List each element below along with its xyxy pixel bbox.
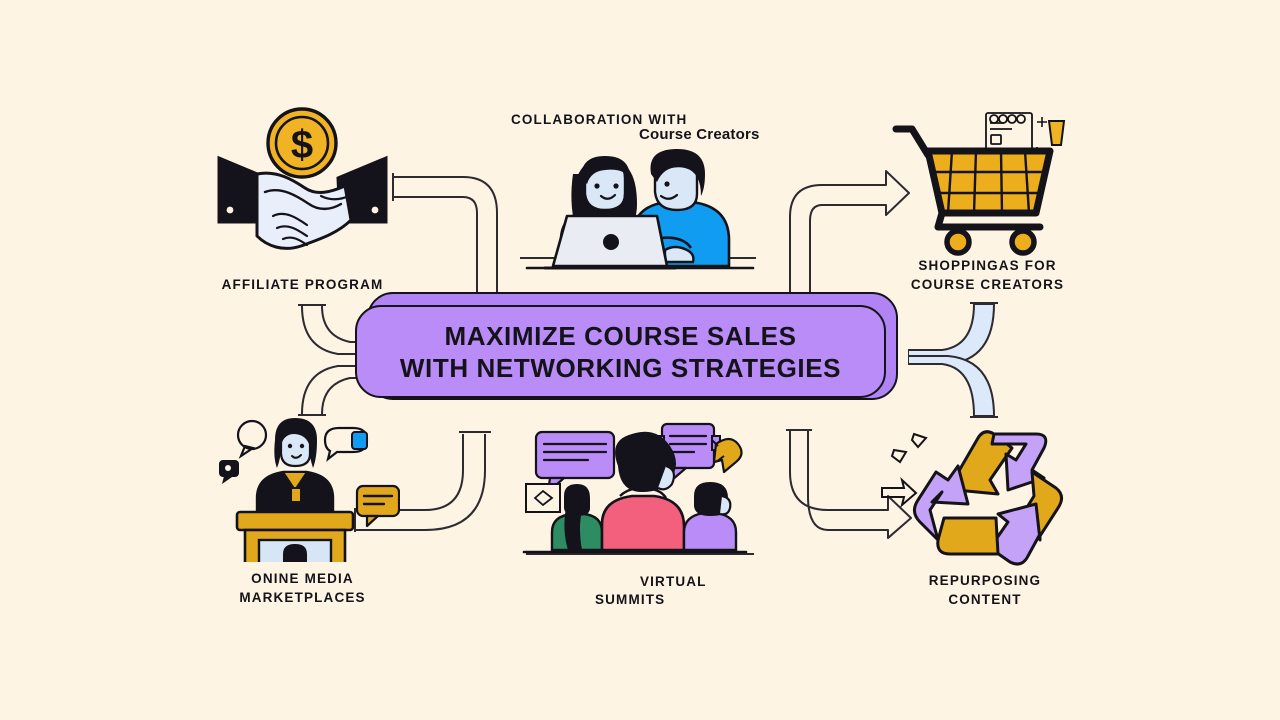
banner-front-layer: MAXIMIZE COURSE SALES WITH NETWORKING ST… [355,305,886,398]
infographic-canvas: $ AFFILIATE PROGRAM COLLABORATION WITH C… [0,0,1280,720]
collaboration-label-line2: Course Creators [639,126,760,143]
collaboration-label-line1: COLLABORATION WITH [511,112,687,127]
node-media-marketplaces[interactable]: ONINE MEDIA MARKETPLACES [205,412,400,612]
node-repurposing-content[interactable]: REPURPOSING CONTENT [880,422,1090,622]
connector-banner-right-split [908,298,1004,422]
node-collaboration[interactable]: COLLABORATION WITH Course Creators [505,112,775,272]
recycle-icon [880,422,1090,570]
central-banner[interactable]: MAXIMIZE COURSE SALES WITH NETWORKING ST… [355,292,900,404]
shopping-cart-icon [890,105,1085,257]
two-people-laptop-icon [515,144,760,272]
media-marketplaces-label: ONINE MEDIA MARKETPLACES [205,570,400,607]
audience-group-icon [520,418,760,556]
connector-affiliate-to-banner [385,165,515,300]
handshake-coin-icon: $ [205,100,400,270]
banner-title: MAXIMIZE COURSE SALES WITH NETWORKING ST… [394,320,847,384]
virtual-summits-label-line1: VIRTUAL [640,574,707,589]
node-shopping[interactable]: SHOPPINGAS FOR COURSE CREATORS [890,105,1085,305]
svg-text:$: $ [291,123,313,167]
node-virtual-summits[interactable]: VIRTUAL SUMMITS [520,418,760,618]
shopping-label: SHOPPINGAS FOR COURSE CREATORS [890,257,1085,294]
virtual-summits-label-line2: SUMMITS [595,592,665,607]
podium-broadcast-icon [205,412,400,562]
repurposing-content-label: REPURPOSING CONTENT [880,572,1090,609]
node-affiliate-program[interactable]: $ AFFILIATE PROGRAM [205,100,400,300]
